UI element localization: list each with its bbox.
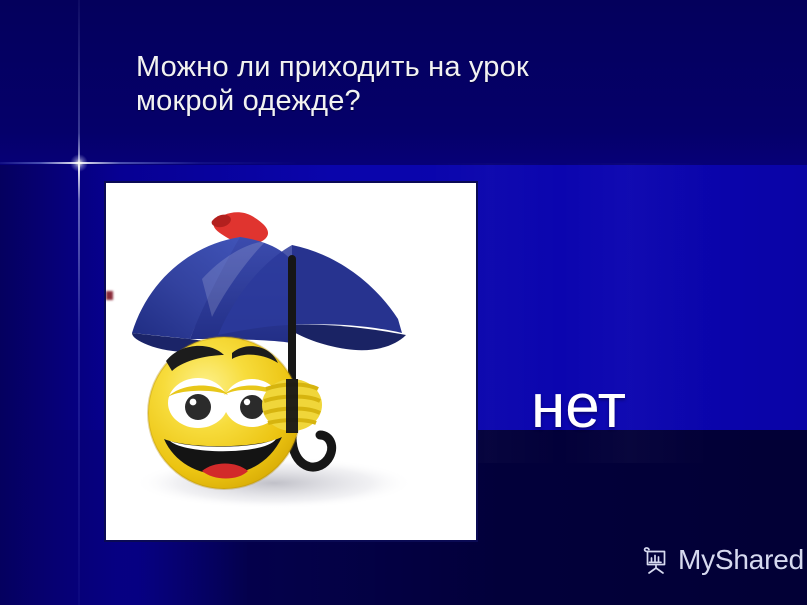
myshared-watermark: MyShared: [641, 545, 804, 575]
sparkle-horizontal-line-icon: [0, 162, 300, 164]
presentation-slide: Можно ли приходить на урок мокрой одежде…: [0, 0, 807, 605]
answer-text: нет: [531, 376, 626, 438]
myshared-watermark-label: MyShared: [678, 545, 804, 575]
smiley-with-umbrella-illustration: [106, 183, 476, 540]
slide-title: Можно ли приходить на урок мокрой одежде…: [136, 50, 696, 118]
right-pupil-icon: [240, 395, 264, 419]
sparkle-vertical-line-icon: [78, 0, 80, 605]
picture-frame: [104, 181, 478, 542]
left-pupil-icon: [185, 394, 211, 420]
cross-sparkle-icon: [70, 154, 88, 172]
easel-chart-icon: [641, 545, 671, 575]
